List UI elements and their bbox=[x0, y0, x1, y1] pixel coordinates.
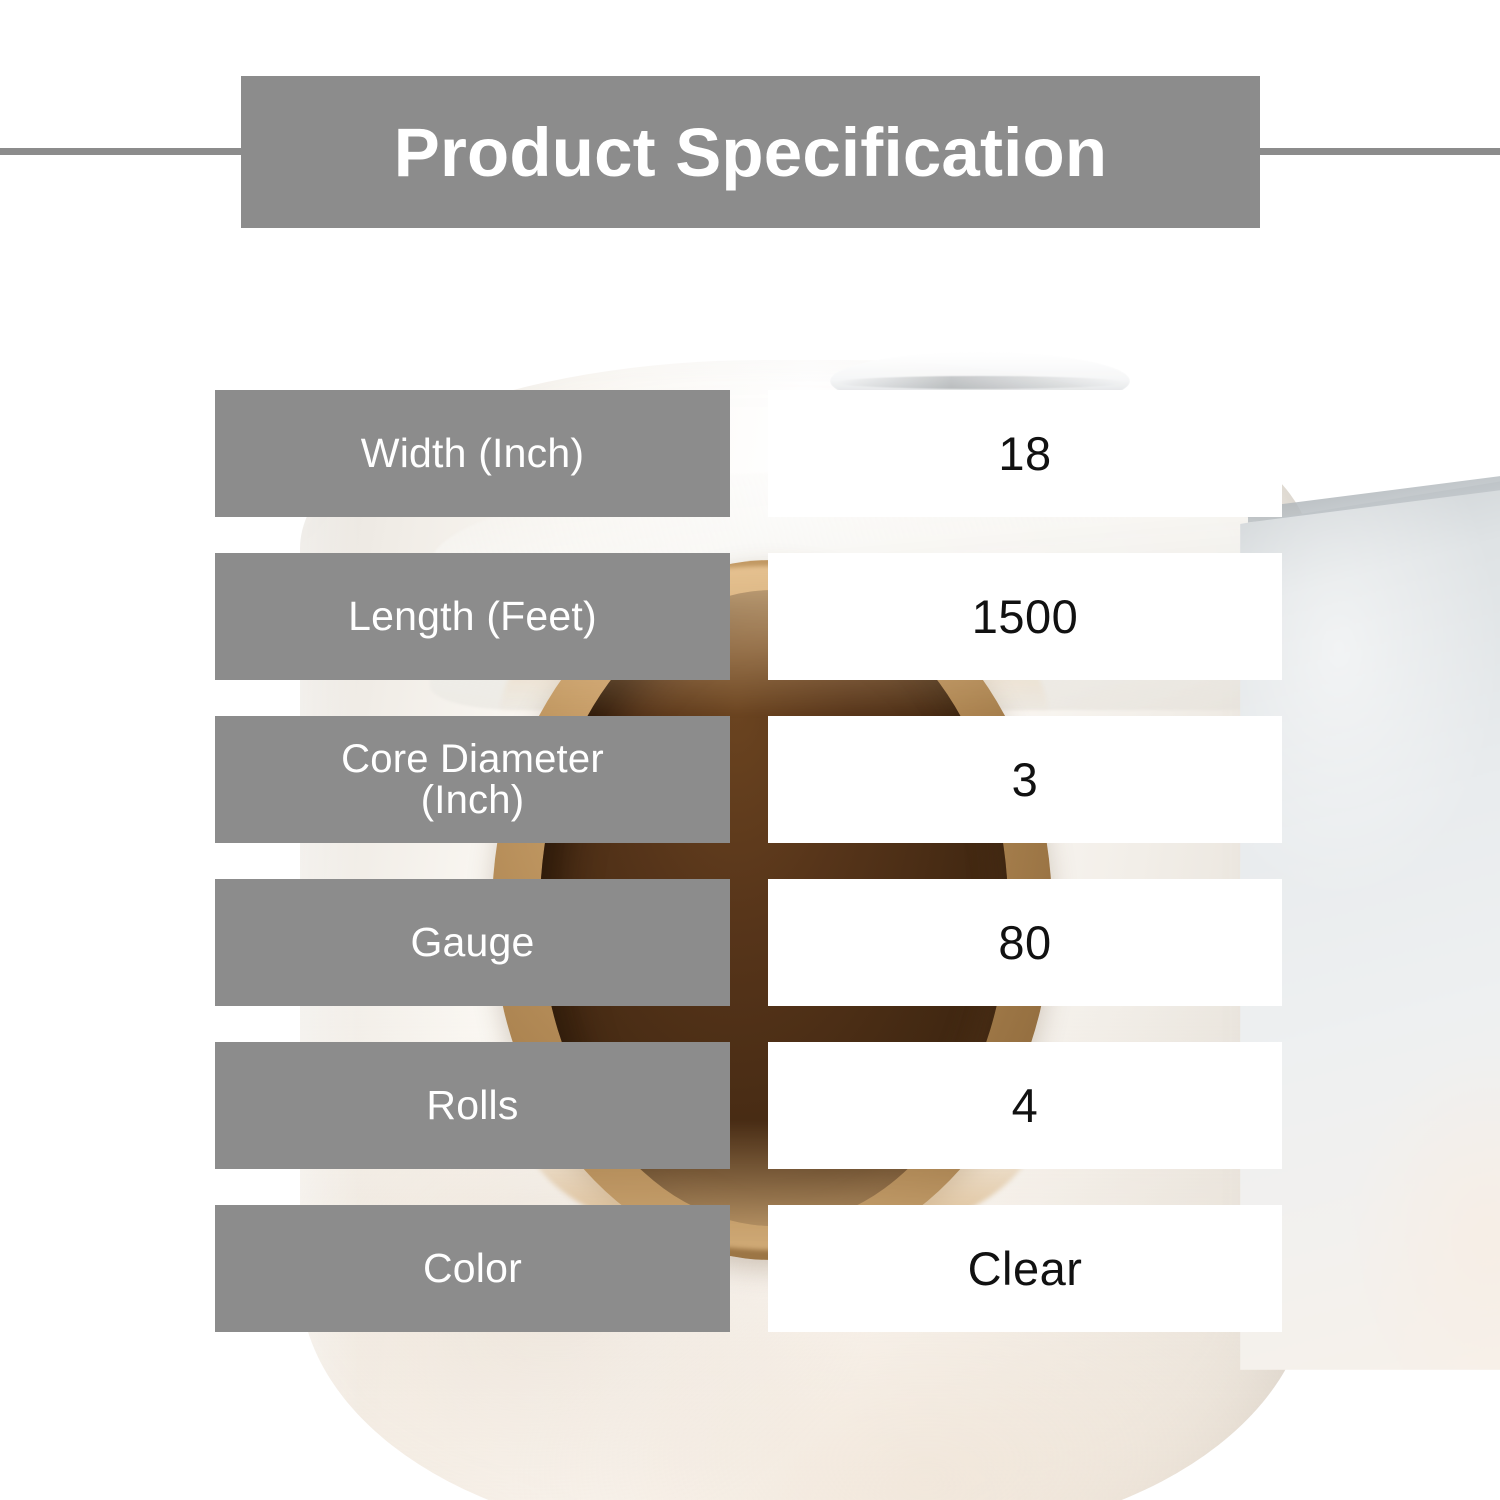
spec-value-color: Clear bbox=[768, 1205, 1282, 1332]
spec-label-text: Gauge bbox=[410, 922, 534, 964]
spec-label-line-1: Core Diameter bbox=[341, 737, 604, 781]
spec-value-gauge: 80 bbox=[768, 879, 1282, 1006]
spec-label-core-diameter: Core Diameter(Inch) bbox=[215, 716, 730, 843]
spec-label-text: Length (Feet) bbox=[348, 596, 597, 638]
spec-label-text: Rolls bbox=[426, 1085, 518, 1127]
specification-table: Width (Inch) 18 Length (Feet) 1500 Core … bbox=[215, 390, 1285, 1332]
spec-label-text: Color bbox=[423, 1248, 522, 1290]
product-specification-infographic: Product Specification Width (Inch) 18 Le… bbox=[0, 0, 1500, 1500]
spec-label-line-2: (Inch) bbox=[421, 778, 524, 822]
spec-value-rolls: 4 bbox=[768, 1042, 1282, 1169]
spec-label-color: Color bbox=[215, 1205, 730, 1332]
spec-label-rolls: Rolls bbox=[215, 1042, 730, 1169]
table-row: Width (Inch) 18 bbox=[215, 390, 1285, 517]
page-title: Product Specification bbox=[394, 118, 1107, 187]
table-row: Length (Feet) 1500 bbox=[215, 553, 1285, 680]
table-row: Gauge 80 bbox=[215, 879, 1285, 1006]
header-banner: Product Specification bbox=[241, 76, 1260, 228]
spec-value-core-diameter: 3 bbox=[768, 716, 1282, 843]
spec-value-text: 18 bbox=[998, 430, 1051, 477]
spec-value-length: 1500 bbox=[768, 553, 1282, 680]
spec-value-text: 4 bbox=[1012, 1082, 1039, 1129]
spec-label-gauge: Gauge bbox=[215, 879, 730, 1006]
spec-value-text: Clear bbox=[968, 1245, 1083, 1292]
spec-value-text: 3 bbox=[1012, 756, 1039, 803]
spec-label-text: Core Diameter(Inch) bbox=[341, 739, 604, 821]
spec-label-text: Width (Inch) bbox=[361, 433, 584, 475]
spec-value-text: 80 bbox=[998, 919, 1051, 966]
spec-label-width: Width (Inch) bbox=[215, 390, 730, 517]
table-row: Core Diameter(Inch) 3 bbox=[215, 716, 1285, 843]
spec-label-length: Length (Feet) bbox=[215, 553, 730, 680]
spec-value-width: 18 bbox=[768, 390, 1282, 517]
table-row: Color Clear bbox=[215, 1205, 1285, 1332]
table-row: Rolls 4 bbox=[215, 1042, 1285, 1169]
spec-value-text: 1500 bbox=[972, 593, 1079, 640]
